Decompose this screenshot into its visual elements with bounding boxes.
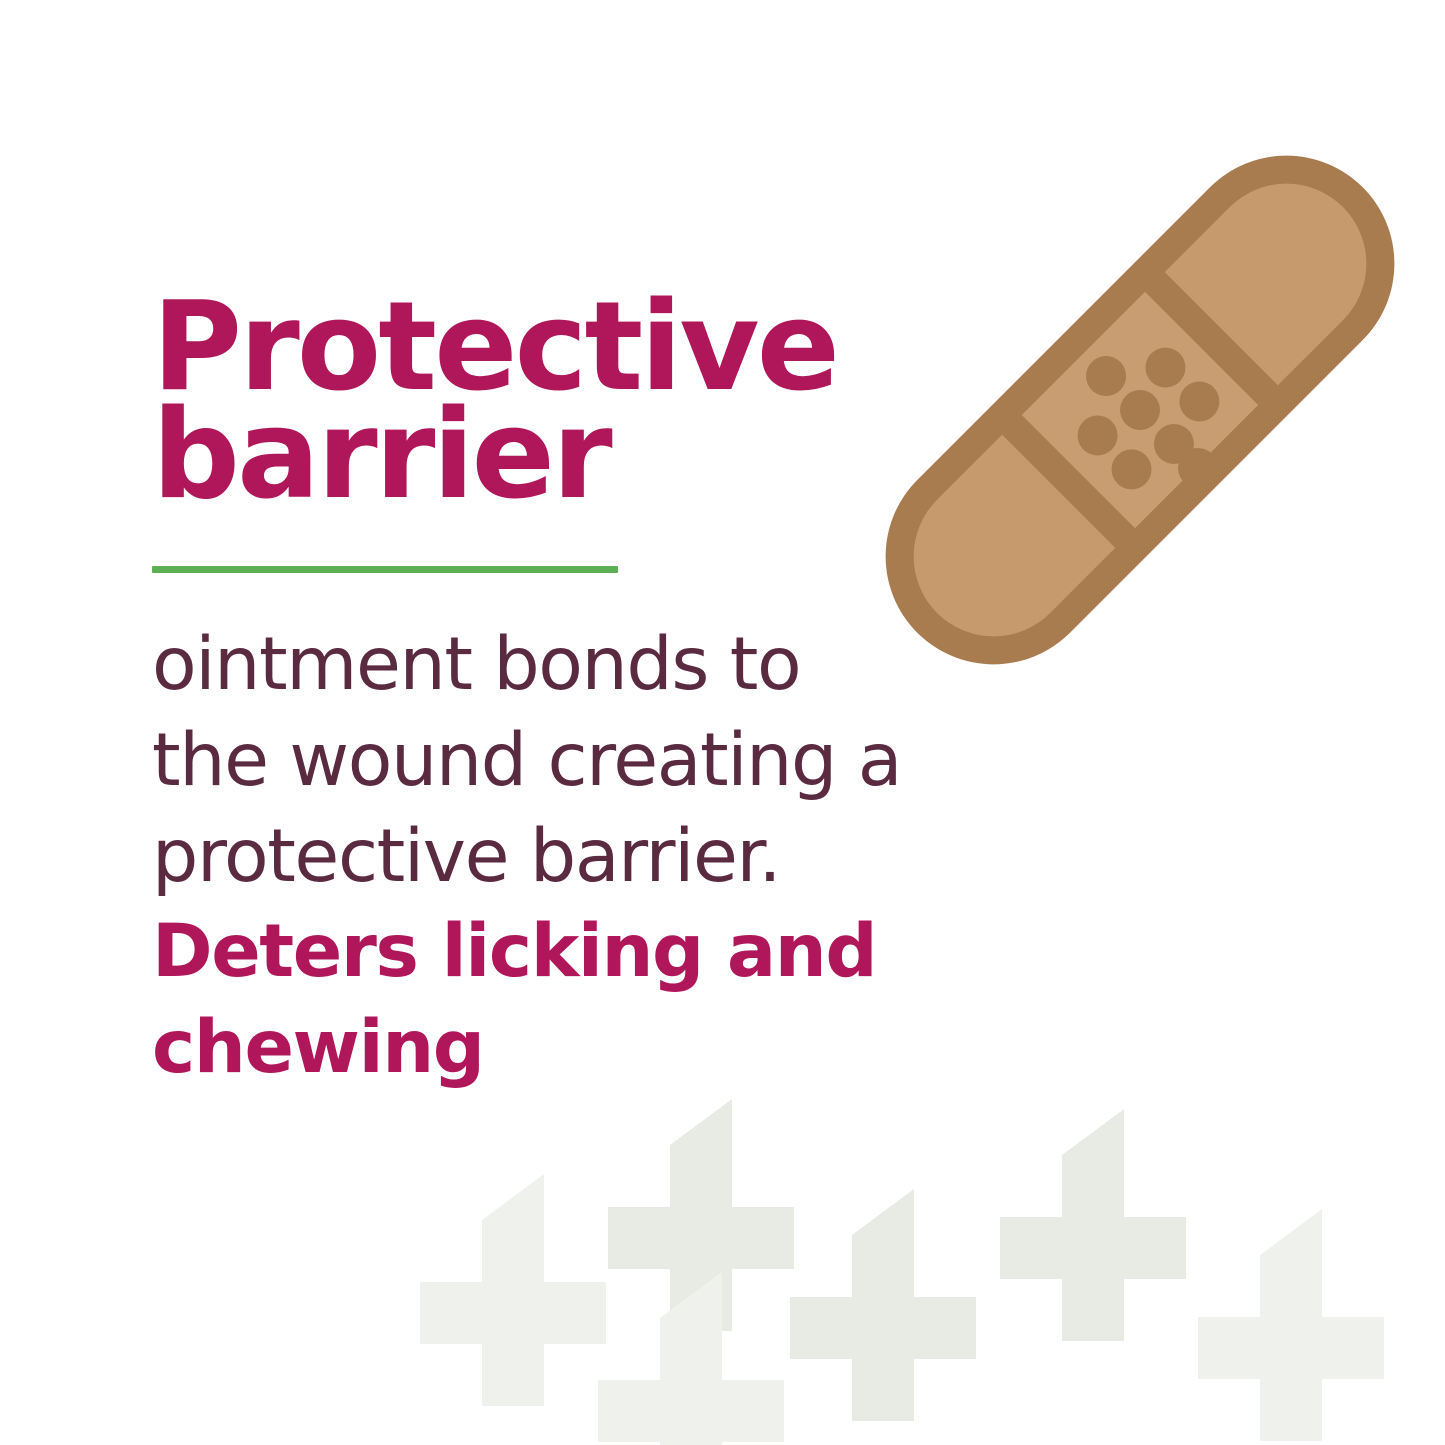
cross-shape (1000, 1109, 1186, 1341)
text-block: Protective barrier ointment bonds to the… (152, 294, 942, 1096)
cross-shape (598, 1272, 784, 1445)
cross-shape (608, 1099, 794, 1331)
cross-shape (790, 1189, 976, 1421)
body-copy-lead: ointment bonds to the wound creating a p… (152, 622, 901, 898)
body-copy: ointment bonds to the wound creating a p… (152, 573, 922, 1095)
green-divider-rule (152, 566, 618, 573)
page-title: Protective barrier (152, 294, 942, 510)
cross-group (420, 1099, 1384, 1445)
cross-shape (1198, 1209, 1384, 1441)
body-copy-emphasis: Deters licking and chewing (152, 909, 876, 1090)
cross-shape (420, 1174, 606, 1406)
poster-canvas: Protective barrier ointment bonds to the… (0, 0, 1445, 1445)
